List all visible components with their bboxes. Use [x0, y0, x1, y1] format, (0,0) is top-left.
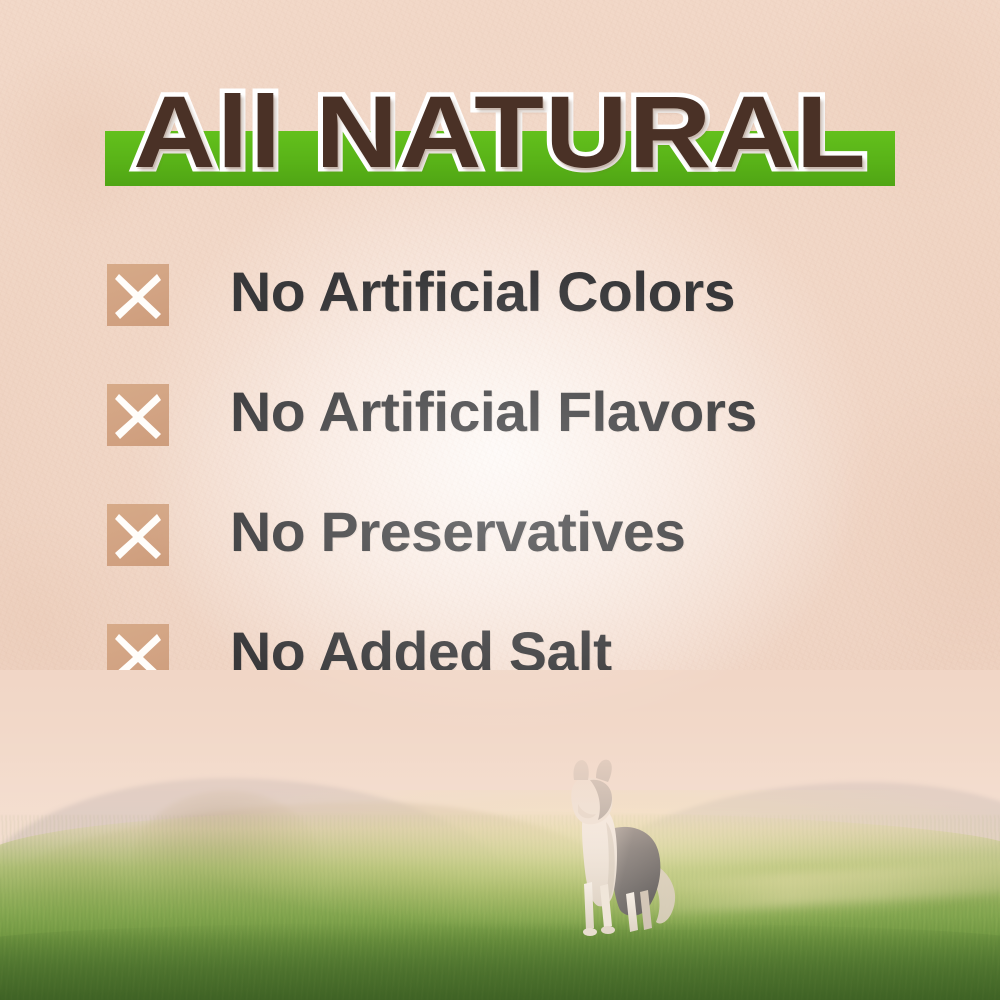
list-item-label: No Artificial Colors — [230, 256, 735, 328]
x-mark-icon — [107, 264, 169, 326]
list-item-label: No Preservatives — [230, 496, 685, 568]
claims-list: No Artificial Colors No Artificial Flavo… — [107, 256, 947, 736]
list-item: No Preservatives — [107, 496, 947, 616]
headline-banner: All NATURAL — [0, 72, 1000, 202]
list-item: No Artificial Flavors — [107, 376, 947, 496]
x-mark-icon — [107, 504, 169, 566]
foreground-shadow — [0, 922, 1000, 1000]
dog-silhouette — [534, 752, 694, 952]
list-item: No Artificial Colors — [107, 256, 947, 376]
page-title: All NATURAL — [0, 72, 1000, 192]
list-item-label: No Artificial Flavors — [230, 376, 757, 448]
product-feature-poster: All NATURAL No Artificial Colors No Arti… — [0, 0, 1000, 1000]
x-mark-icon — [107, 384, 169, 446]
dog-photo — [0, 670, 1000, 1000]
